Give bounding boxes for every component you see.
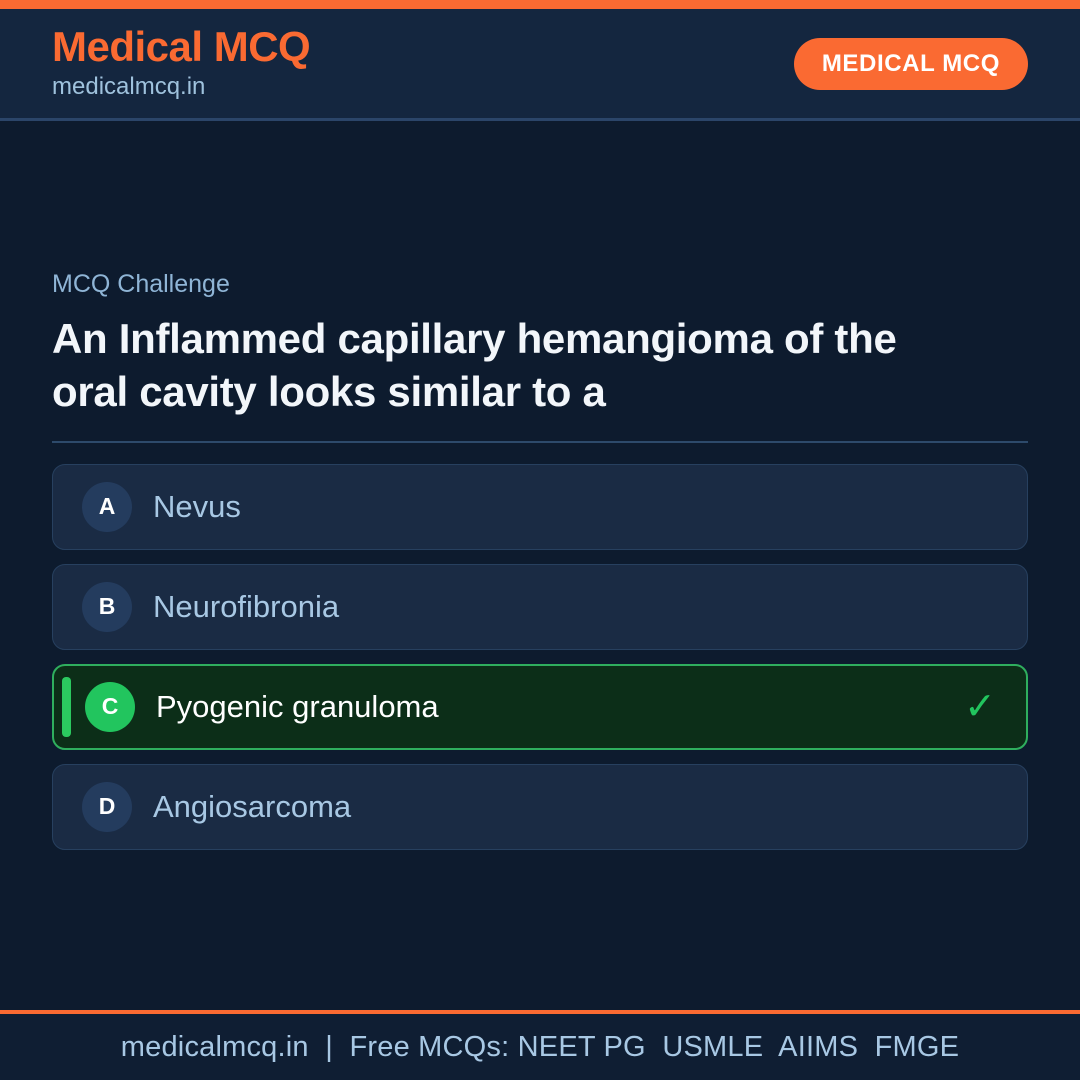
option-label: Neurofibronia: [153, 588, 339, 625]
option-label: Pyogenic granuloma: [156, 688, 439, 725]
option-key-badge: A: [82, 482, 132, 532]
option-row-c[interactable]: C Pyogenic granuloma ✓: [52, 664, 1028, 750]
option-label: Angiosarcoma: [153, 788, 351, 825]
correct-accent-bar: [62, 677, 71, 737]
option-key-badge: C: [85, 682, 135, 732]
option-key-badge: B: [82, 582, 132, 632]
brand-subtitle: medicalmcq.in: [52, 72, 310, 102]
brand-title: Medical MCQ: [52, 25, 310, 70]
option-row-d[interactable]: D Angiosarcoma: [52, 764, 1028, 850]
top-accent-bar: [0, 0, 1080, 9]
question-text: An Inflammed capillary hemangioma of the…: [52, 313, 952, 419]
header: Medical MCQ medicalmcq.in MEDICAL MCQ: [0, 9, 1080, 121]
footer-text: medicalmcq.in | Free MCQs: NEET PG USMLE…: [121, 1031, 959, 1064]
check-icon: ✓: [964, 688, 996, 726]
footer: medicalmcq.in | Free MCQs: NEET PG USMLE…: [0, 1010, 1080, 1080]
eyebrow-label: MCQ Challenge: [52, 269, 1028, 299]
brand-block: Medical MCQ medicalmcq.in: [52, 25, 310, 102]
option-key-badge: D: [82, 782, 132, 832]
option-row-b[interactable]: B Neurofibronia: [52, 564, 1028, 650]
main-content: MCQ Challenge An Inflammed capillary hem…: [0, 121, 1080, 1010]
question-divider: [52, 441, 1028, 443]
option-row-a[interactable]: A Nevus: [52, 464, 1028, 550]
options-list: A Nevus B Neurofibronia C Pyogenic granu…: [52, 464, 1028, 850]
option-label: Nevus: [153, 488, 241, 525]
header-badge: MEDICAL MCQ: [794, 38, 1028, 90]
mcq-card: Medical MCQ medicalmcq.in MEDICAL MCQ MC…: [0, 0, 1080, 1080]
